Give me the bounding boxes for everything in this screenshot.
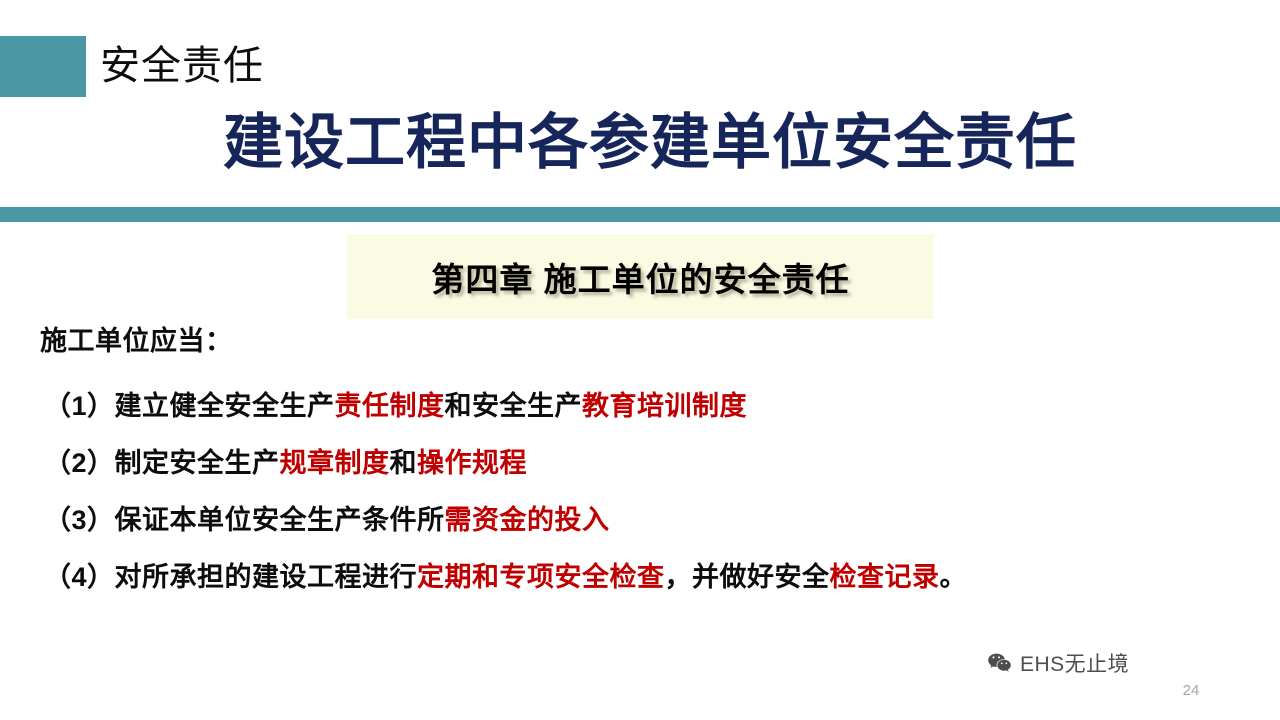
footer-brand-label: EHS无止境 xyxy=(1020,648,1129,678)
page-title: 建设工程中各参建单位安全责任 xyxy=(0,103,1280,183)
highlighted-text-run: 检查记录 xyxy=(830,562,940,592)
bullet-list: （1）建立健全安全生产责任制度和安全生产教育培训制度 （2）制定安全生产规章制度… xyxy=(44,378,1244,606)
highlighted-text-run: 教育培训制度 xyxy=(582,391,747,421)
page-kicker: 安全责任 xyxy=(100,36,264,96)
chapter-label: 第四章 施工单位的安全责任 xyxy=(431,253,849,301)
highlighted-text-run: 定期和专项安全检查 xyxy=(417,562,665,592)
list-item: （1）建立健全安全生产责任制度和安全生产教育培训制度 xyxy=(44,378,1244,435)
list-item: （3）保证本单位安全生产条件所需资金的投入 xyxy=(44,492,1244,549)
text-run: （2）制定安全生产 xyxy=(44,448,280,478)
text-run: 和安全生产 xyxy=(445,391,583,421)
text-run: （3）保证本单位安全生产条件所 xyxy=(44,505,445,535)
text-run: 。 xyxy=(940,562,968,592)
text-run: 和 xyxy=(390,448,418,478)
wechat-icon xyxy=(986,650,1013,677)
highlighted-text-run: 责任制度 xyxy=(335,391,445,421)
chapter-banner: 第四章 施工单位的安全责任 xyxy=(347,234,934,319)
body-lead-text: 施工单位应当： xyxy=(40,320,233,362)
list-item: （4）对所承担的建设工程进行定期和专项安全检查，并做好安全检查记录。 xyxy=(44,549,1244,606)
page-number: 24 xyxy=(1176,682,1206,699)
teal-square-decoration-icon xyxy=(0,36,86,97)
text-run: （1）建立健全安全生产 xyxy=(44,391,335,421)
highlighted-text-run: 操作规程 xyxy=(417,448,527,478)
text-run: ，并做好安全 xyxy=(665,562,830,592)
highlighted-text-run: 规章制度 xyxy=(280,448,390,478)
text-run: （4）对所承担的建设工程进行 xyxy=(44,562,417,592)
list-item: （2）制定安全生产规章制度和操作规程 xyxy=(44,435,1244,492)
teal-horizontal-rule-icon xyxy=(0,207,1280,222)
highlighted-text-run: 需资金的投入 xyxy=(445,505,610,535)
footer-brand: EHS无止境 xyxy=(986,648,1129,678)
slide-canvas: 安全责任 建设工程中各参建单位安全责任 第四章 施工单位的安全责任 施工单位应当… xyxy=(0,0,1280,720)
